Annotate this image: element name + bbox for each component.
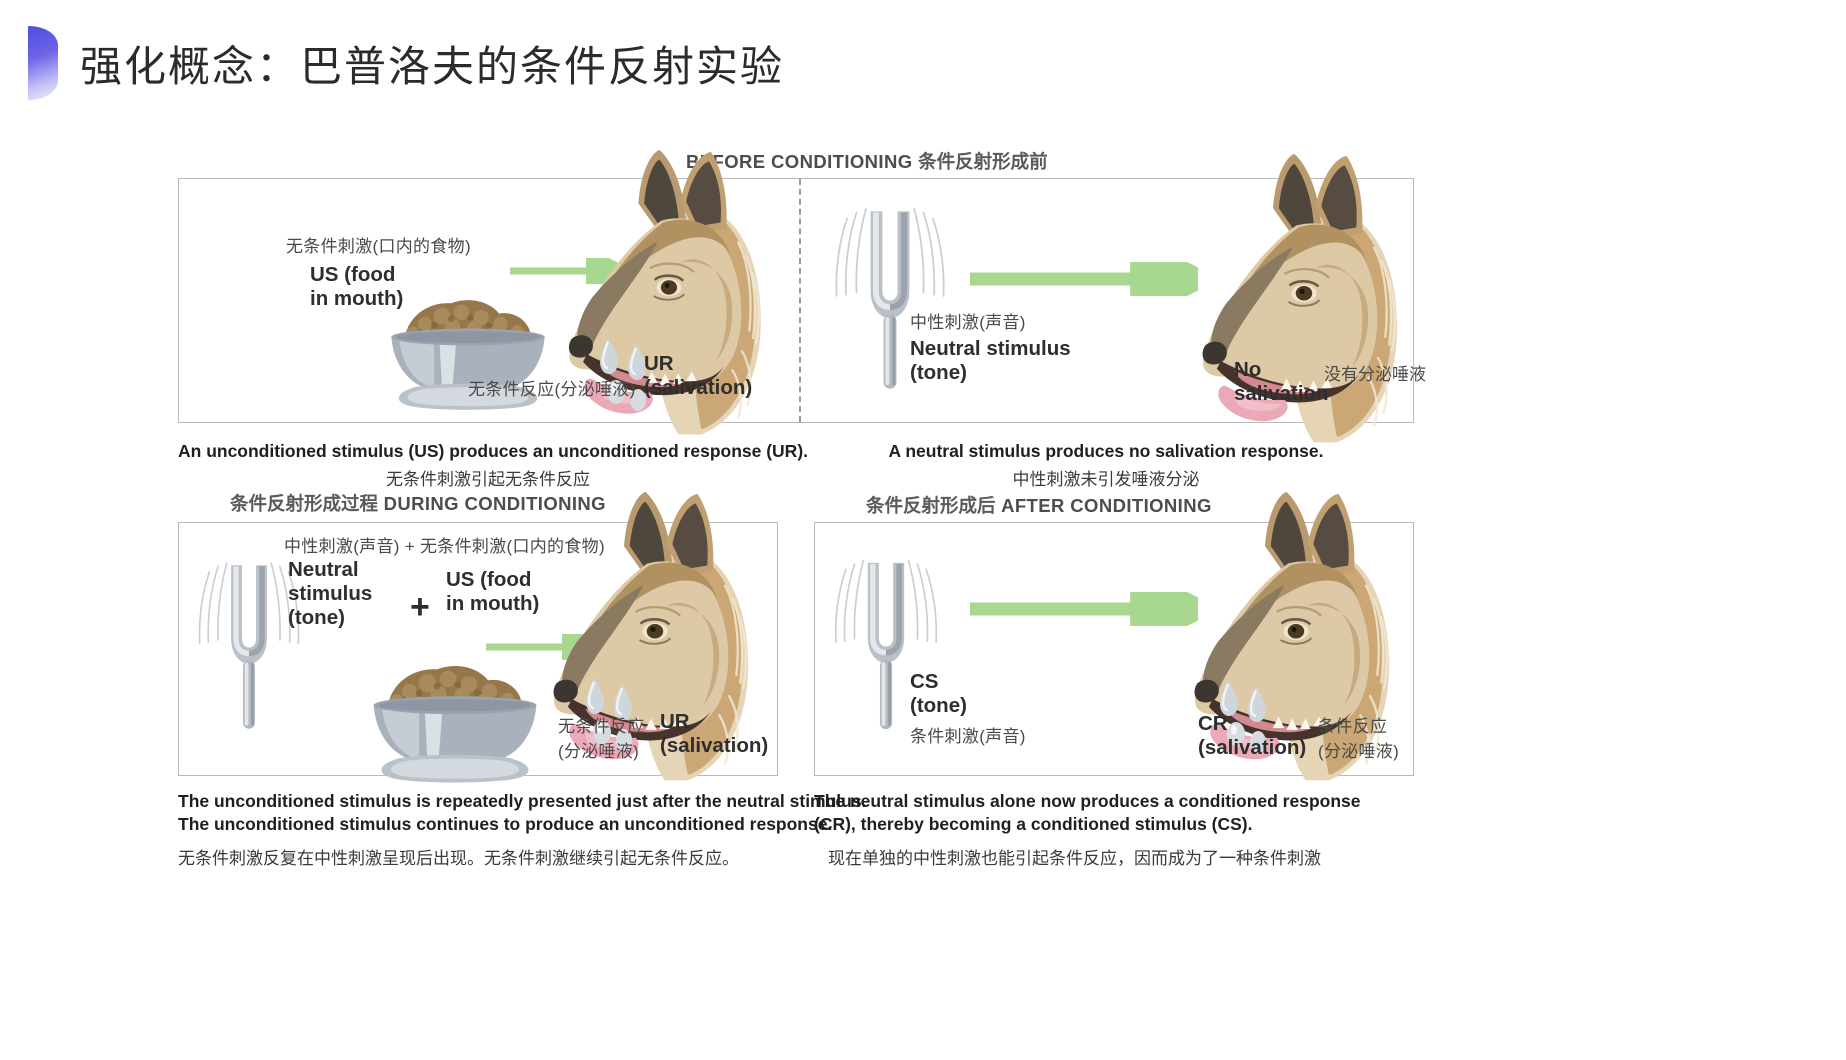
- plus-sign: +: [410, 588, 430, 627]
- label-us-before-cn: 无条件刺激(口内的食物): [286, 232, 471, 257]
- label-ur-before-cn-text: 无条件反应(分泌唾液): [468, 375, 636, 400]
- label-ur-during: UR (salivation): [660, 710, 768, 758]
- label-ur-before-en2: (salivation): [644, 376, 752, 400]
- food-bowl-icon: [350, 650, 560, 788]
- green-arrow-icon: [968, 262, 1198, 296]
- label-us-during-en1: US (food: [446, 568, 539, 592]
- caption-during-en2: The unconditioned stimulus continues to …: [178, 814, 832, 834]
- caption-before-left: An unconditioned stimulus (US) produces …: [178, 440, 798, 492]
- label-cs-after: CS (tone) 条件刺激(声音): [910, 670, 1026, 747]
- caption-after-en1: The neutral stimulus alone now produces …: [814, 791, 1360, 811]
- dog-head-icon: [1178, 152, 1428, 452]
- caption-after-en2: (CR), thereby becoming a conditioned sti…: [814, 814, 1253, 834]
- caption-before-left-en: An unconditioned stimulus (US) produces …: [178, 441, 808, 461]
- label-no-salivation-en2: salivation: [1234, 382, 1329, 406]
- label-cr-after-cn1: 条件反应: [1318, 712, 1399, 737]
- caption-before-left-cn: 无条件刺激引起无条件反应: [178, 469, 798, 491]
- page-title: 强化概念：巴普洛夫的条件反射实验: [80, 33, 784, 94]
- title-accent-shape: [28, 26, 58, 100]
- label-ur-during-cn: 无条件反应 (分泌唾液): [558, 712, 645, 762]
- label-neutral-during-en1: Neutral: [288, 558, 372, 582]
- label-cr-after-cn: 条件反应 (分泌唾液): [1318, 712, 1399, 762]
- label-ur-before-cn: 无条件反应(分泌唾液): [468, 375, 636, 400]
- label-ur-during-en2: (salivation): [660, 734, 768, 758]
- caption-after: The neutral stimulus alone now produces …: [814, 790, 1360, 871]
- caption-before-right-cn: 中性刺激未引发唾液分泌: [798, 469, 1414, 491]
- label-no-salivation-en1: No: [1234, 358, 1329, 382]
- label-us-during: US (food in mouth): [446, 568, 539, 616]
- label-ur-during-en1: UR: [660, 710, 768, 734]
- slide-title-bar: 强化概念：巴普洛夫的条件反射实验: [0, 26, 784, 100]
- label-us-before-en1: US (food: [310, 263, 471, 287]
- caption-before-right-en: A neutral stimulus produces no salivatio…: [888, 441, 1323, 461]
- label-cs-after-cn: 条件刺激(声音): [910, 722, 1026, 747]
- section-head-after: 条件反射形成后 AFTER CONDITIONING: [866, 492, 1212, 518]
- label-neutral-during-en3: (tone): [288, 606, 372, 630]
- label-neutral-during-en2: stimulus: [288, 582, 372, 606]
- label-no-salivation-cn: 没有分泌唾液: [1324, 360, 1426, 385]
- label-neutral-before-cn: 中性刺激(声音): [910, 308, 1071, 333]
- label-no-salivation: No salivation: [1234, 358, 1329, 406]
- label-cs-after-en1: CS: [910, 670, 1026, 694]
- label-neutral-during: Neutral stimulus (tone): [288, 558, 372, 630]
- section-head-before-cn: 条件反射形成前: [918, 151, 1048, 172]
- pavlov-conditioning-figure: BEFORE CONDITIONING 条件反射形成前 无条件刺激(口内的食物)…: [178, 160, 1678, 1010]
- label-cr-after-en1: CR: [1198, 712, 1306, 736]
- label-cs-after-en2: (tone): [910, 694, 1026, 718]
- label-cr-after-cn2: (分泌唾液): [1318, 737, 1399, 762]
- label-us-during-en2: in mouth): [446, 592, 539, 616]
- label-ur-during-cn1: 无条件反应: [558, 712, 645, 737]
- label-neutral-before-en2: (tone): [910, 361, 1071, 385]
- section-head-during-cn: 条件反射形成过程: [230, 493, 378, 514]
- caption-during-cn: 无条件刺激反复在中性刺激呈现后出现。无条件刺激继续引起无条件反应。: [178, 848, 866, 870]
- caption-during: The unconditioned stimulus is repeatedly…: [178, 790, 866, 871]
- label-ur-before: UR (salivation): [644, 352, 752, 400]
- caption-before-right: A neutral stimulus produces no salivatio…: [798, 440, 1414, 492]
- green-arrow-icon: [968, 592, 1198, 626]
- panel-divider: [799, 179, 801, 422]
- label-ur-during-cn2: (分泌唾液): [558, 737, 645, 762]
- caption-during-en1: The unconditioned stimulus is repeatedly…: [178, 791, 866, 811]
- label-neutral-before: 中性刺激(声音) Neutral stimulus (tone): [910, 308, 1071, 385]
- section-head-after-cn: 条件反射形成后: [866, 495, 996, 516]
- label-cr-after: CR (salivation): [1198, 712, 1306, 760]
- caption-after-cn: 现在单独的中性刺激也能引起条件反应，因而成为了一种条件刺激: [828, 848, 1360, 870]
- label-ur-before-en1: UR: [644, 352, 752, 376]
- label-neutral-before-en1: Neutral stimulus: [910, 337, 1071, 361]
- label-cr-after-en2: (salivation): [1198, 736, 1306, 760]
